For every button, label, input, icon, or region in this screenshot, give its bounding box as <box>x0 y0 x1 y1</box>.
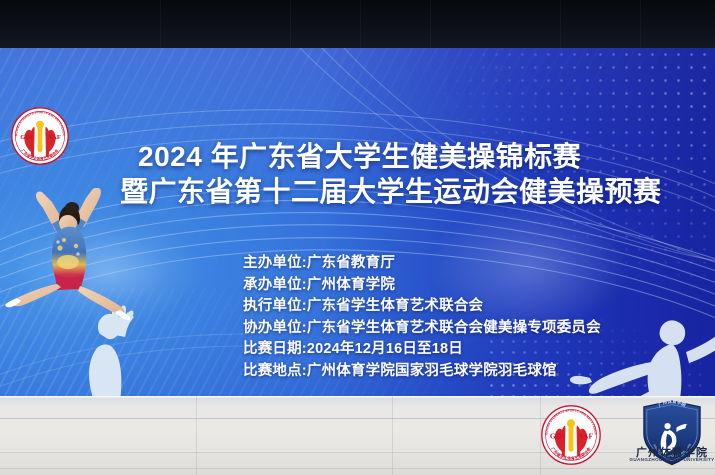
photo-scene: GDS SAF GUANGDONG STUDENTS SPORTS AND AR… <box>0 0 715 475</box>
gzsu-name-en: GUANGZHOU SPORT UNIVERSITY <box>626 457 715 462</box>
gds-saf-logo: GDS SAF GUANGDONG STUDENTS SPORTS AND AR… <box>540 404 602 466</box>
info-line-venue: 比赛地点:广州体育学院国家羽毛球学院羽毛球馆 <box>243 361 573 383</box>
saf-text: SAF <box>579 432 594 441</box>
gds-text: GDS <box>550 432 565 441</box>
floor-edge <box>0 396 715 399</box>
banner-title-line-2: 暨广东省第十二届大学生运动会健美操预赛 <box>120 174 715 210</box>
svg-text:SAF: SAF <box>48 134 60 141</box>
gymnast-athlete <box>0 188 170 333</box>
hall-floor <box>0 396 715 475</box>
info-line-organizer: 主办单位:广东省教育厅 <box>243 253 573 275</box>
info-line-host: 承办单位:广州体育学院 <box>243 275 573 297</box>
info-line-coorganizer: 协办单位:广东省学生体育艺术联合会健美操专项委员会 <box>243 318 573 340</box>
info-line-date: 比赛日期:2024年12月16日至18日 <box>243 339 573 361</box>
event-backdrop-banner: GDS SAF GUANGDONG STUDENTS SPORTS AND AR… <box>0 48 715 398</box>
gds-saf-emblem-icon: GDS SAF GUANGDONG STUDENTS SPORTS AND AR… <box>10 106 70 166</box>
banner-info-block: 主办单位:广东省教育厅 承办单位:广州体育学院 执行单位:广东省学生体育艺术联合… <box>243 253 573 382</box>
svg-text:GDS: GDS <box>20 134 34 141</box>
banner-title-line-1: 2024 年广东省大学生健美操锦标赛 <box>120 140 715 174</box>
banner-title-block: 2024 年广东省大学生健美操锦标赛 暨广东省第十二届大学生运动会健美操预赛 <box>120 140 715 210</box>
info-line-executor: 执行单位:广东省学生体育艺术联合会 <box>243 296 573 318</box>
